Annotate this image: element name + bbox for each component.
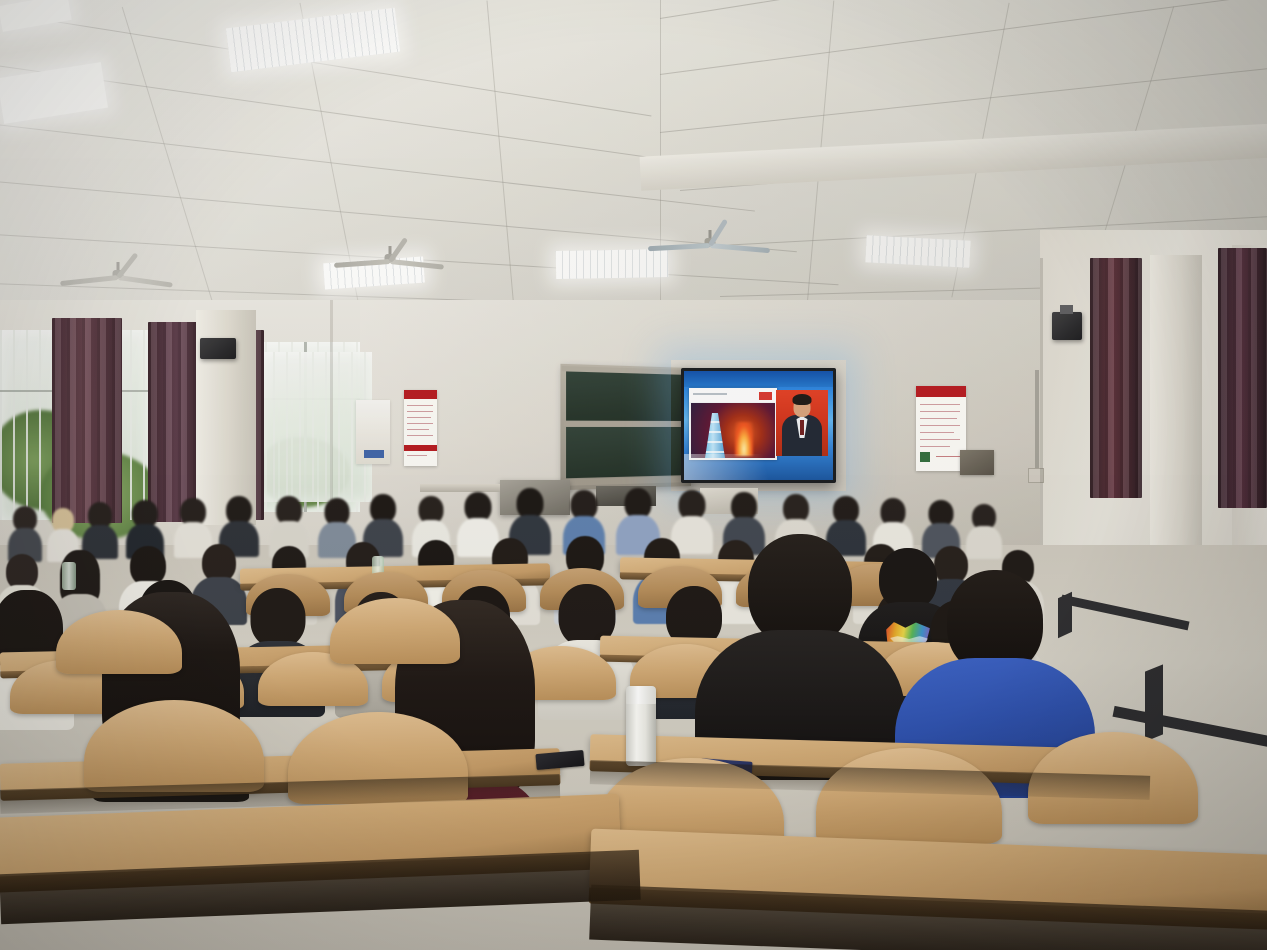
floor-skirting-right bbox=[1145, 664, 1163, 741]
curtain-right-1 bbox=[1090, 258, 1142, 498]
wall-conduit bbox=[1035, 370, 1039, 480]
classroom-photo bbox=[0, 0, 1267, 950]
wall-speaker-right bbox=[1052, 312, 1082, 340]
tv-screen-content bbox=[684, 371, 833, 480]
wall-mounted-television[interactable] bbox=[681, 368, 836, 483]
tv-logo-mark bbox=[759, 392, 772, 400]
curtain-right-2 bbox=[1218, 248, 1267, 508]
wall-poster-left bbox=[404, 390, 437, 466]
wall-poster-right bbox=[916, 386, 966, 471]
tv-rocket-launch-image bbox=[691, 403, 775, 458]
rocket-flame bbox=[735, 422, 753, 456]
tv-news-card-header bbox=[689, 388, 777, 402]
front-wall-notice-blue bbox=[364, 450, 384, 458]
wall-speaker-left bbox=[200, 338, 236, 359]
speaker-bracket-right bbox=[1060, 305, 1073, 314]
tv-news-anchor bbox=[776, 390, 828, 456]
thermos-bottle bbox=[626, 686, 656, 766]
tv-channel-bar bbox=[684, 371, 833, 387]
rocket-icon bbox=[705, 413, 725, 458]
tv-news-card bbox=[689, 388, 777, 460]
